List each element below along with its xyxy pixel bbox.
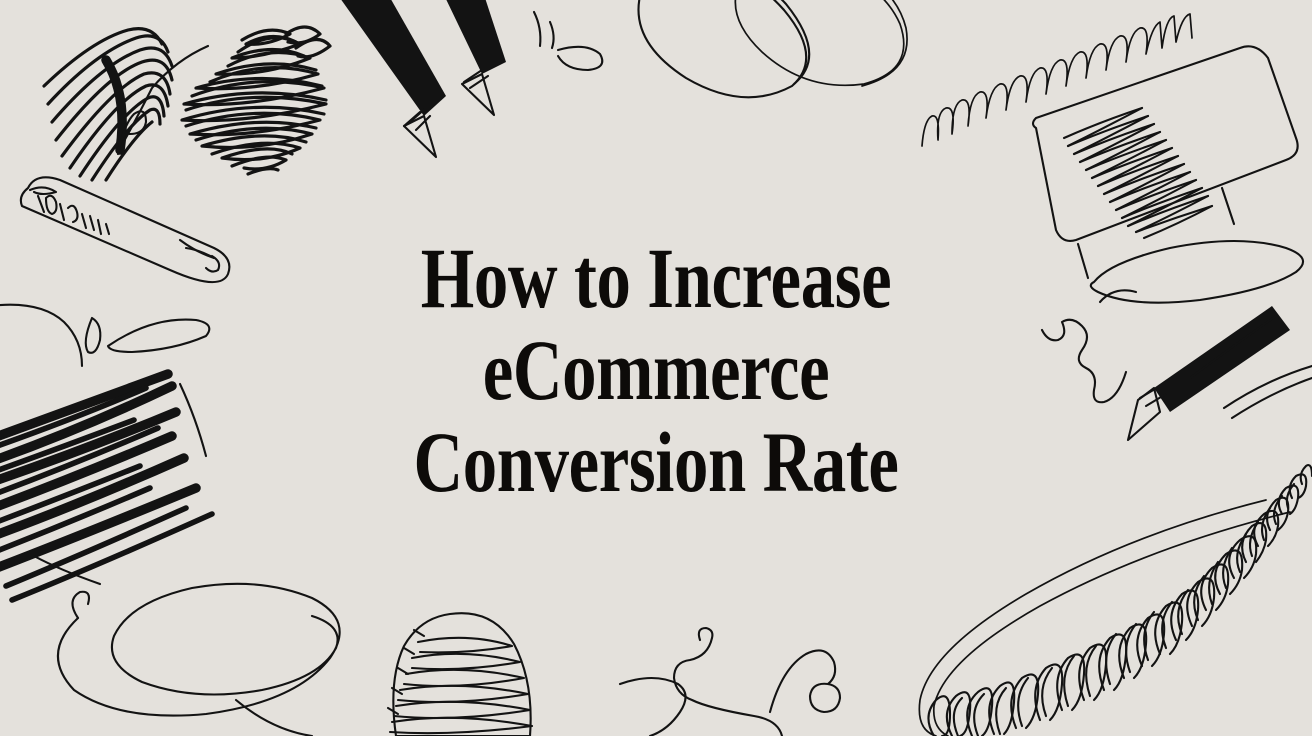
scribbled-moon-doodle — [44, 29, 208, 180]
vine-squiggle-doodle — [620, 628, 840, 736]
overlapping-circles-doodle — [638, 0, 907, 97]
page-title: How to Increase eCommerce Conversion Rat… — [0, 232, 1312, 508]
coil-squiggle-doodle — [922, 14, 1192, 146]
title-line-1: How to Increase — [131, 232, 1181, 324]
hatched-capsule-doodle — [388, 613, 532, 736]
scribbled-heart-doodle — [182, 27, 330, 174]
spark-doodle — [534, 12, 602, 70]
pencil-doodle-one — [330, 0, 446, 157]
cover-canvas: How to Increase eCommerce Conversion Rat… — [0, 0, 1312, 736]
pencil-doodle-two — [432, 0, 506, 115]
loop-spiral-doodle — [34, 556, 340, 736]
title-line-3: Conversion Rate — [131, 416, 1181, 508]
title-line-2: eCommerce — [131, 324, 1181, 416]
